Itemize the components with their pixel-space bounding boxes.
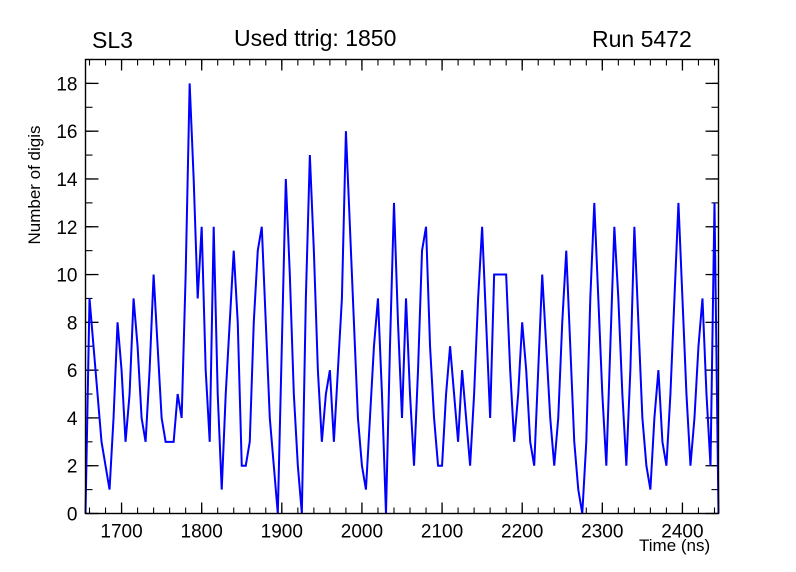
plot-frame: [86, 60, 719, 514]
minor-ticks-group: [86, 60, 719, 514]
x-tick-label: 1800: [181, 522, 223, 543]
x-tick-label: 2300: [581, 522, 623, 543]
x-tick-label: 1700: [100, 522, 142, 543]
y-tick-label: 12: [56, 218, 77, 239]
y-tick-label: 2: [67, 457, 78, 478]
x-tick-label: 2200: [501, 522, 543, 543]
x-tick-label: 2000: [341, 522, 383, 543]
digis-time-series: [86, 83, 719, 513]
y-tick-label: 16: [56, 122, 77, 143]
x-tick-label: 1900: [261, 522, 303, 543]
y-tick-label: 0: [67, 505, 78, 526]
y-tick-label: 10: [56, 266, 77, 287]
chart-canvas: SL3 Used ttrig: 1850 Run 5472 Number of …: [0, 0, 796, 572]
x-tick-label: 2100: [421, 522, 463, 543]
y-tick-label: 18: [56, 74, 77, 95]
major-ticks-group: [86, 60, 719, 514]
plot-area: 1700180019002000210022002300240002468101…: [0, 0, 796, 572]
tick-labels-group: 1700180019002000210022002300240002468101…: [56, 74, 703, 542]
y-tick-label: 14: [56, 170, 78, 191]
x-tick-label: 2400: [661, 522, 703, 543]
y-tick-label: 6: [67, 361, 78, 382]
y-tick-label: 8: [67, 313, 78, 334]
y-tick-label: 4: [67, 409, 78, 430]
